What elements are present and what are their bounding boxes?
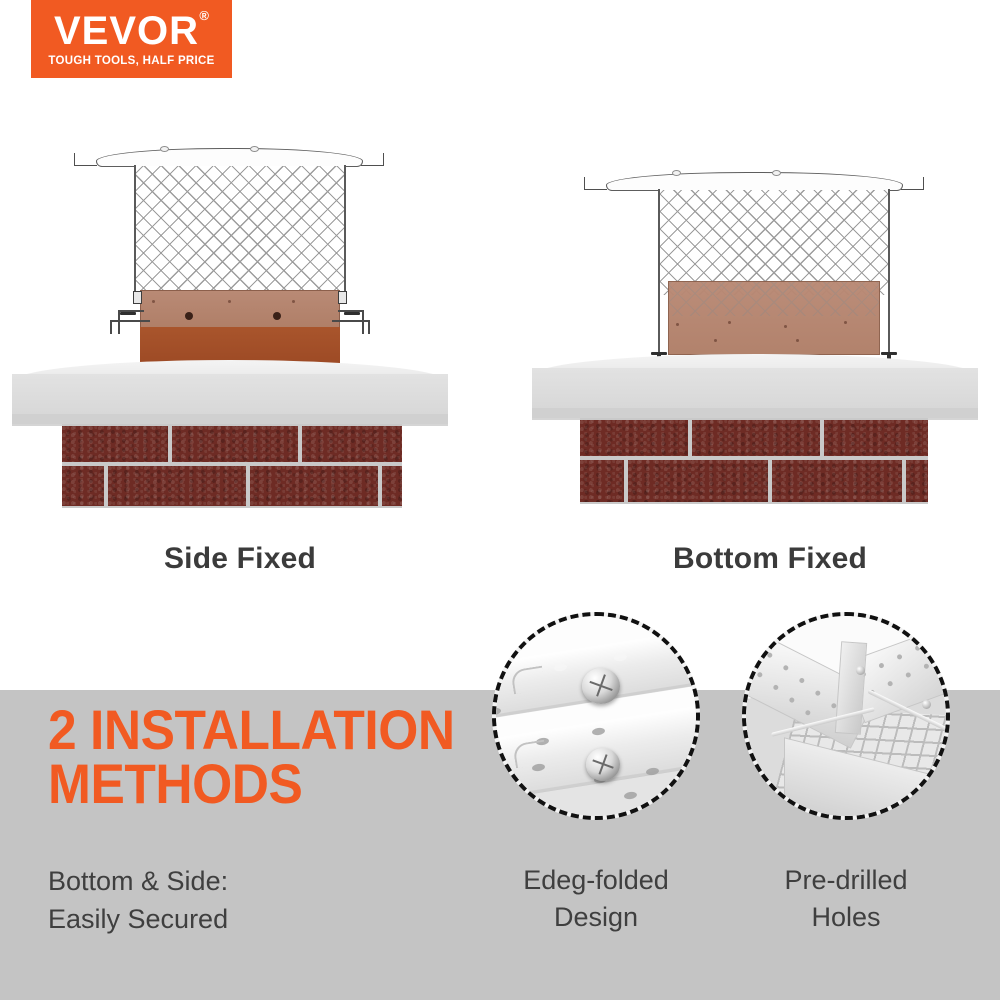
rod-head-right xyxy=(922,700,931,709)
caption-pre-drilled: Pre-drilled Holes xyxy=(716,862,976,937)
diamond-mesh-screen xyxy=(660,190,888,295)
diagram-side-fixed xyxy=(0,0,460,530)
feature-photo-pre-drilled xyxy=(742,612,950,820)
lid-left-lip xyxy=(74,153,97,166)
phillips-screw-icon xyxy=(582,668,620,704)
caption-pre-drilled-line-2: Holes xyxy=(716,899,976,936)
band-rivet-icon xyxy=(273,312,281,320)
concrete-crown xyxy=(12,360,448,424)
diamond-mesh-screen xyxy=(136,166,344,294)
chimney-cap-lid xyxy=(96,148,363,167)
corner-post-right xyxy=(344,165,346,297)
headline-line-2: METHODS xyxy=(48,757,434,811)
subheadline-line-2: Easily Secured xyxy=(48,900,468,938)
lid-rivet-icon xyxy=(772,170,781,176)
headline-line-1: 2 INSTALLATION xyxy=(48,703,434,757)
brick-chimney xyxy=(580,418,928,504)
headline-block: 2 INSTALLATION METHODS xyxy=(48,703,468,811)
caption-edge-folded-line-2: Design xyxy=(466,899,726,936)
band-rivet-icon xyxy=(185,312,193,320)
subheadline-line-1: Bottom & Side: xyxy=(48,862,468,900)
lid-right-lip xyxy=(361,153,384,166)
subheadline-block: Bottom & Side: Easily Secured xyxy=(48,862,468,939)
lid-rivet-icon xyxy=(160,146,169,152)
side-bracket-left xyxy=(133,291,142,304)
lid-left-lip xyxy=(584,177,607,190)
lid-right-lip xyxy=(901,177,924,190)
chimney-cap-lid xyxy=(606,172,903,191)
copper-base-band xyxy=(668,281,880,355)
caption-bottom-fixed: Bottom Fixed xyxy=(590,542,950,576)
phillips-screw-icon xyxy=(586,748,620,781)
lid-rivet-icon xyxy=(672,170,681,176)
product-infographic: VEVOR ® TOUGH TOOLS, HALF PRICE xyxy=(0,0,1000,1000)
rod-head-left xyxy=(856,666,865,675)
caption-pre-drilled-line-1: Pre-drilled xyxy=(716,862,976,899)
feature-photo-edge-folded xyxy=(492,612,700,820)
copper-base-band xyxy=(140,290,340,365)
caption-edge-folded-line-1: Edeg-folded xyxy=(466,862,726,899)
lid-rivet-icon xyxy=(250,146,259,152)
caption-side-fixed: Side Fixed xyxy=(60,542,420,576)
corner-leg-right xyxy=(888,189,890,356)
side-bracket-right xyxy=(338,291,347,304)
diagram-bottom-fixed xyxy=(520,0,990,530)
brick-chimney xyxy=(62,424,402,508)
concrete-crown xyxy=(532,354,978,418)
caption-edge-folded: Edeg-folded Design xyxy=(466,862,726,937)
